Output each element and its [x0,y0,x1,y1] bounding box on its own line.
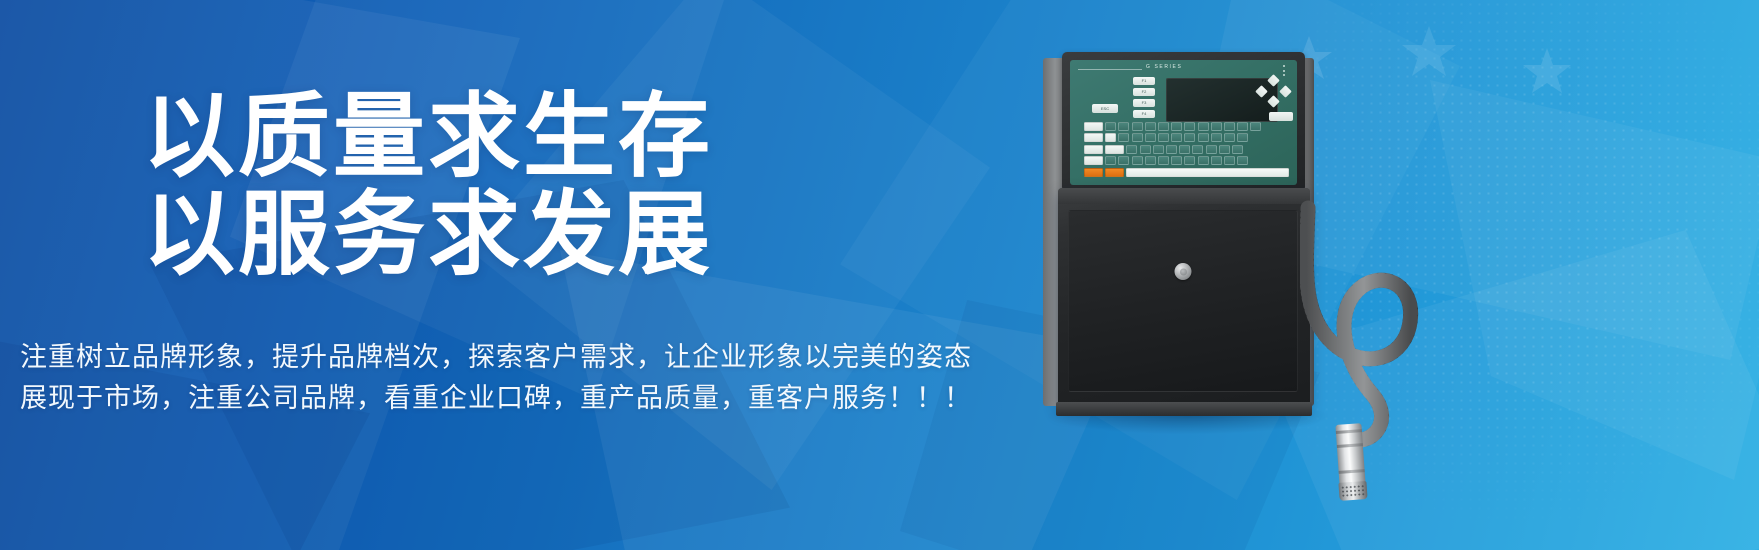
key[interactable] [1237,156,1248,165]
esc-key[interactable]: ESC [1092,104,1118,113]
key[interactable] [1198,122,1209,131]
body-line-1: 注重树立品牌形象，提升品牌档次，探索客户需求，让企业形象以完美的姿态 [20,337,972,378]
keypad-row [1084,133,1289,142]
banner-text-block: 以质量求生存 以服务求发展 注重树立品牌形象，提升品牌档次，探索客户需求，让企业… [0,0,1000,550]
key[interactable] [1145,122,1156,131]
key-ctrl[interactable] [1084,145,1103,154]
keypad-row [1084,156,1289,165]
key[interactable] [1145,133,1156,142]
control-panel: G SERIES F1 F2 F3 F4 ESC [1070,60,1297,185]
key[interactable] [1171,133,1182,142]
function-key-f3[interactable]: F3 [1133,99,1155,107]
key[interactable] [1198,156,1209,165]
key[interactable] [1192,145,1203,154]
headline-line-2: 以服务求发展 [143,186,713,284]
function-key-column: F1 F2 F3 F4 [1133,77,1155,121]
keypad[interactable] [1084,122,1289,179]
key[interactable] [1250,122,1261,131]
key[interactable] [1224,122,1235,131]
key[interactable] [1237,133,1248,142]
banner-body-copy: 注重树立品牌形象，提升品牌档次，探索客户需求，让企业形象以完美的姿态 展现于市场… [20,337,972,419]
key[interactable] [1224,133,1235,142]
control-head: G SERIES F1 F2 F3 F4 ESC [1062,52,1305,192]
enter-key[interactable] [1269,112,1293,121]
function-key-f4[interactable]: F4 [1133,110,1155,118]
key[interactable] [1158,133,1169,142]
key[interactable] [1153,145,1164,154]
banner-headline: 以质量求生存 以服务求发展 [143,88,713,284]
panel-divider [1078,69,1142,70]
key[interactable] [1224,156,1235,165]
key[interactable] [1237,122,1248,131]
cabinet-base [1056,402,1312,416]
key-delete-orange[interactable] [1105,168,1124,177]
key[interactable] [1184,133,1195,142]
key[interactable] [1105,156,1116,165]
key[interactable] [1206,145,1217,154]
key-space[interactable] [1126,168,1289,177]
keypad-row [1084,168,1289,177]
key[interactable] [1211,122,1222,131]
key-tab[interactable] [1105,133,1116,142]
key[interactable] [1118,133,1129,142]
printhead-nozzle-grid [1341,484,1366,498]
key[interactable] [1105,122,1116,131]
key[interactable] [1132,133,1143,142]
key-escape-orange[interactable] [1084,168,1103,177]
cable-conduit-icon [1300,196,1490,496]
lock-icon[interactable] [1175,263,1192,280]
dpad-icon[interactable] [1257,76,1291,106]
key[interactable] [1211,156,1222,165]
key-caps[interactable] [1084,133,1103,142]
key[interactable] [1140,145,1151,154]
key[interactable] [1132,156,1143,165]
key[interactable] [1211,133,1222,142]
key[interactable] [1158,122,1169,131]
function-key-f2[interactable]: F2 [1133,88,1155,96]
promo-banner: 以质量求生存 以服务求发展 注重树立品牌形象，提升品牌档次，探索客户需求，让企业… [0,0,1759,550]
keypad-row [1084,122,1289,131]
key[interactable] [1132,122,1143,131]
function-key-f1[interactable]: F1 [1133,77,1155,85]
key[interactable] [1126,145,1137,154]
key[interactable] [1232,145,1243,154]
key-alt[interactable] [1105,145,1124,154]
keypad-row [1084,145,1289,154]
headline-line-1: 以质量求生存 [143,86,713,188]
key[interactable] [1118,122,1129,131]
series-label: G SERIES [1146,64,1182,70]
key[interactable] [1184,156,1195,165]
key-ent[interactable] [1084,122,1103,131]
product-image-inkjet-printer: G SERIES F1 F2 F3 F4 ESC [1010,46,1490,516]
cabinet-door [1068,210,1298,392]
key[interactable] [1171,122,1182,131]
key[interactable] [1219,145,1230,154]
key[interactable] [1179,145,1190,154]
printer-cabinet [1058,188,1310,406]
key[interactable] [1198,133,1209,142]
panel-header: G SERIES [1076,64,1291,74]
key[interactable] [1184,122,1195,131]
cabinet-top-edge [1058,188,1310,204]
printhead-icon [1331,423,1370,501]
key[interactable] [1145,156,1156,165]
key[interactable] [1118,156,1129,165]
key-shift[interactable] [1084,156,1103,165]
body-line-2: 展现于市场，注重公司品牌，看重企业口碑，重产品质量，重客户服务！！！ [20,378,972,419]
key[interactable] [1166,145,1177,154]
key[interactable] [1158,156,1169,165]
key[interactable] [1171,156,1182,165]
